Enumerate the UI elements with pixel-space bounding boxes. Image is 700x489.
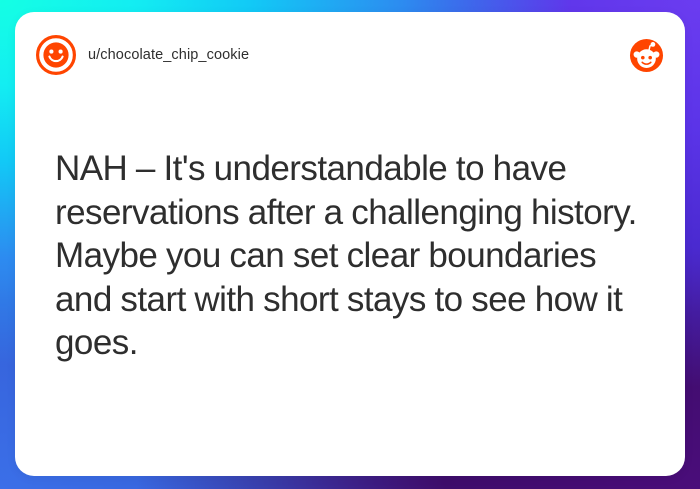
username-label: u/chocolate_chip_cookie xyxy=(88,47,249,63)
post-body: NAH – It's understandable to have reserv… xyxy=(15,98,685,365)
smiley-face-avatar-icon xyxy=(36,35,76,75)
post-header: u/chocolate_chip_cookie xyxy=(15,12,685,98)
reddit-snoo-logo-icon xyxy=(629,38,664,73)
post-text: NAH – It's understandable to have reserv… xyxy=(55,147,651,365)
reddit-logo[interactable] xyxy=(629,38,664,73)
reddit-post-card: u/chocolate_chip_cookie NAH – It's under… xyxy=(15,12,685,476)
gradient-background: u/chocolate_chip_cookie NAH – It's under… xyxy=(0,0,700,489)
avatar[interactable] xyxy=(36,35,76,75)
